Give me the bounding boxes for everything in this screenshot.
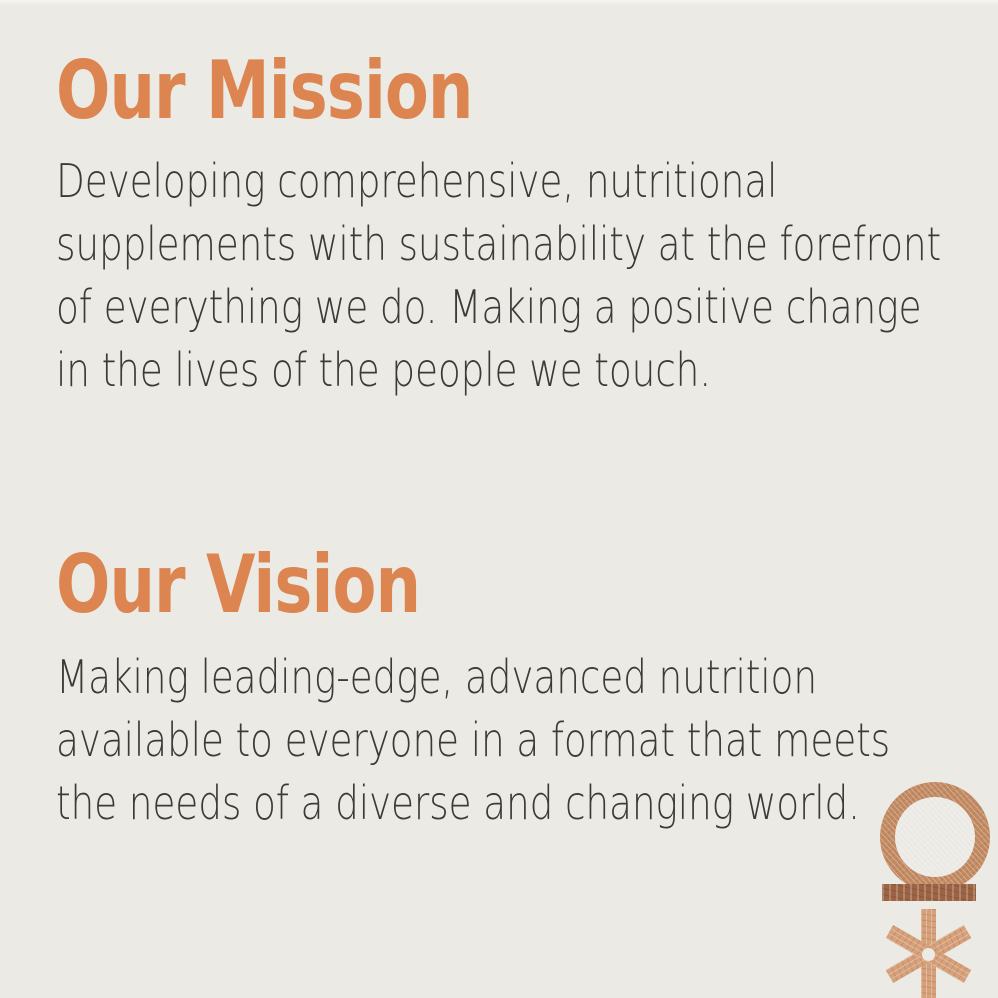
- asterisk-center-hole: [922, 948, 935, 961]
- poster-canvas: Our Mission Developing comprehensive, nu…: [0, 0, 998, 998]
- asterisk-icon: [876, 910, 980, 998]
- mission-section: Our Mission Developing comprehensive, nu…: [56, 46, 926, 402]
- vision-section: Our Vision Making leading-edge, advanced…: [56, 540, 926, 835]
- vision-body-text: Making leading-edge, advanced nutrition …: [56, 630, 944, 835]
- bar-icon: [882, 884, 976, 901]
- page-top-edge: [0, 0, 998, 6]
- mission-heading: Our Mission: [56, 46, 752, 136]
- ring-icon: [880, 782, 990, 892]
- vision-heading: Our Vision: [56, 540, 752, 630]
- brand-logo: [872, 782, 984, 998]
- mission-body-text: Developing comprehensive, nutritional su…: [56, 136, 944, 402]
